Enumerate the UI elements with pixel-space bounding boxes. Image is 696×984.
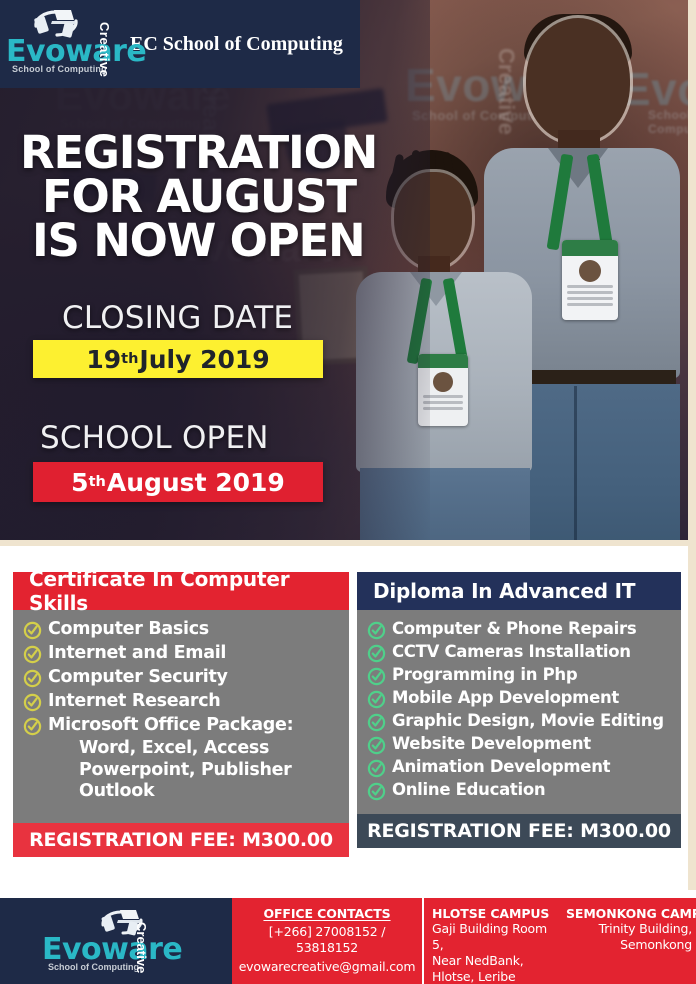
check-circle-icon bbox=[367, 644, 386, 663]
hero-divider bbox=[0, 540, 696, 546]
school-open-label: SCHOOL OPEN bbox=[40, 420, 269, 456]
course-item-label: Microsoft Office Package: bbox=[48, 714, 293, 737]
brand-tagline: School of Computing bbox=[48, 962, 139, 972]
hlotse-address-line-2: Near NedBank, bbox=[432, 953, 554, 969]
course-card-title: Diploma In Advanced IT bbox=[357, 572, 681, 610]
headline-line-2: FOR AUGUST bbox=[20, 175, 420, 219]
course-card-title: Certificate In Computer Skills bbox=[13, 572, 349, 610]
course-card-body: Computer & Phone Repairs CCTV Cameras In… bbox=[357, 610, 681, 814]
list-item: Internet Research bbox=[19, 690, 343, 713]
list-item: Graphic Design, Movie Editing bbox=[363, 710, 675, 732]
open-date-rest: August 2019 bbox=[107, 468, 285, 497]
check-circle-icon bbox=[23, 645, 42, 664]
list-item: Animation Development bbox=[363, 756, 675, 778]
closing-date-ordinal: th bbox=[121, 351, 138, 367]
check-circle-icon bbox=[367, 667, 386, 686]
school-open-badge: 5thAugust 2019 bbox=[33, 462, 323, 502]
closing-date-badge: 19thJuly 2019 bbox=[33, 340, 323, 378]
headline-line-1: REGISTRATION bbox=[20, 131, 420, 175]
check-circle-icon bbox=[367, 690, 386, 709]
course-card-body: Computer Basics Internet and Email bbox=[13, 610, 349, 815]
list-item: Website Development bbox=[363, 733, 675, 755]
right-edge-strip bbox=[688, 0, 696, 546]
course-item-label: Animation Development bbox=[392, 756, 610, 778]
course-item-label: Internet and Email bbox=[48, 642, 226, 665]
closing-date-label: CLOSING DATE bbox=[62, 300, 293, 336]
open-date-ordinal: th bbox=[89, 474, 106, 490]
hlotse-address-line-1: Gaji Building Room 5, bbox=[432, 921, 554, 953]
semonkong-campus-title: SEMONKONG CAMPUS bbox=[566, 906, 692, 921]
semonkong-campus-block: SEMONKONG CAMPUS Trinity Building, Semon… bbox=[560, 898, 696, 984]
hero-text-block: REGISTRATION FOR AUGUST IS NOW OPEN CLOS… bbox=[0, 0, 430, 546]
list-item: Online Education bbox=[363, 779, 675, 801]
headline-line-3: IS NOW OPEN bbox=[20, 219, 420, 263]
check-circle-icon bbox=[367, 782, 386, 801]
course-item-label: Internet Research bbox=[48, 690, 220, 713]
course-item-label: Graphic Design, Movie Editing bbox=[392, 710, 664, 732]
course-item-label: Programming in Php bbox=[392, 664, 577, 686]
list-item: Computer Basics bbox=[19, 618, 343, 641]
course-item-label: Computer & Phone Repairs bbox=[392, 618, 636, 640]
open-date-day: 5 bbox=[71, 468, 88, 497]
course-subitem-label: Powerpoint, Publisher bbox=[19, 760, 343, 781]
course-item-label: Website Development bbox=[392, 733, 591, 755]
semonkong-address-line-2: Semonkong bbox=[566, 937, 692, 953]
check-circle-icon bbox=[367, 759, 386, 778]
course-subitem-label: Outlook bbox=[19, 781, 343, 802]
course-item-label: Mobile App Development bbox=[392, 687, 619, 709]
list-item: Computer Security bbox=[19, 666, 343, 689]
course-cards: Certificate In Computer Skills Computer … bbox=[0, 546, 696, 890]
list-item: Microsoft Office Package: bbox=[19, 714, 343, 737]
course-item-label: Online Education bbox=[392, 779, 545, 801]
closing-date-day: 19 bbox=[86, 345, 121, 374]
list-item: Mobile App Development bbox=[363, 687, 675, 709]
check-circle-icon bbox=[367, 713, 386, 732]
check-circle-icon bbox=[23, 669, 42, 688]
footer: Evoware School of Computing Creative OFF… bbox=[0, 898, 696, 984]
course-card-certificate[interactable]: Certificate In Computer Skills Computer … bbox=[13, 572, 349, 857]
check-circle-icon bbox=[23, 693, 42, 712]
check-circle-icon bbox=[23, 621, 42, 640]
office-contacts-title: OFFICE CONTACTS bbox=[238, 906, 416, 921]
check-circle-icon bbox=[23, 717, 42, 736]
brand-creative-label: Creative bbox=[134, 922, 149, 973]
registration-fee-badge: REGISTRATION FEE: M300.00 bbox=[357, 814, 681, 848]
course-subitem-label: Word, Excel, Access bbox=[19, 738, 343, 759]
course-card-diploma[interactable]: Diploma In Advanced IT Computer & Phone … bbox=[357, 572, 681, 848]
course-item-label: CCTV Cameras Installation bbox=[392, 641, 631, 663]
office-phone[interactable]: [+266] 27008152 / 53818152 bbox=[238, 924, 416, 956]
hero-headline: REGISTRATION FOR AUGUST IS NOW OPEN bbox=[20, 131, 420, 263]
hlotse-address-line-3: Hlotse, Leribe bbox=[432, 969, 554, 984]
list-item: Computer & Phone Repairs bbox=[363, 618, 675, 640]
list-item: Programming in Php bbox=[363, 664, 675, 686]
office-contacts-block: OFFICE CONTACTS [+266] 27008152 / 538181… bbox=[232, 898, 422, 984]
hlotse-campus-title: HLOTSE CAMPUS bbox=[432, 906, 554, 921]
closing-date-rest: July 2019 bbox=[139, 345, 269, 374]
registration-fee-badge: REGISTRATION FEE: M300.00 bbox=[13, 823, 349, 857]
list-item: Internet and Email bbox=[19, 642, 343, 665]
footer-contacts: OFFICE CONTACTS [+266] 27008152 / 538181… bbox=[232, 898, 696, 984]
check-circle-icon bbox=[367, 621, 386, 640]
right-edge-strip bbox=[688, 546, 696, 890]
id-badge bbox=[562, 240, 618, 320]
poster-root: Evoware School of Computing Evoware Scho… bbox=[0, 0, 696, 984]
course-item-label: Computer Basics bbox=[48, 618, 209, 641]
check-circle-icon bbox=[367, 736, 386, 755]
course-item-label: Computer Security bbox=[48, 666, 228, 689]
office-email[interactable]: evowarecreative@gmail.com bbox=[238, 959, 416, 975]
hlotse-campus-block: HLOTSE CAMPUS Gaji Building Room 5, Near… bbox=[422, 898, 560, 984]
footer-brand-logo[interactable]: Evoware School of Computing Creative bbox=[0, 898, 232, 984]
list-item: CCTV Cameras Installation bbox=[363, 641, 675, 663]
semonkong-address-line-1: Trinity Building, bbox=[566, 921, 692, 937]
